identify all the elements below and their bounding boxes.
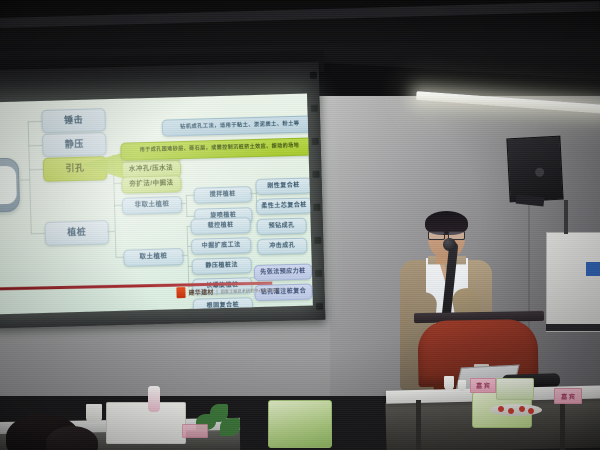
paper-cup: [444, 376, 454, 390]
cabinet-band: [546, 324, 600, 331]
wall-speaker-icon: [506, 136, 563, 203]
pink-bottle: [148, 386, 160, 412]
mindmap-node-level4: 先张法预应力桩: [254, 263, 312, 281]
mindmap-node-level3: 载控植桩: [190, 217, 250, 235]
connector: [115, 257, 123, 258]
cabinet-sticker: [586, 262, 600, 276]
mindmap-node-level2: 夯扩法/中掘法: [121, 175, 181, 194]
mindmap-node-level4: 预钻成孔: [256, 218, 306, 235]
brand-name: 建华建材: [188, 287, 213, 297]
cabinet-mount-rod: [564, 200, 568, 234]
mindmap-node-level2: 非取土植桩: [122, 196, 182, 215]
fruit-plate: [490, 404, 542, 416]
connector: [113, 183, 121, 184]
mindmap-node-level1: 植桩: [44, 220, 109, 246]
mindmap-node-level3: 中掘扩底工法: [191, 237, 251, 255]
name-card: 嘉 宾: [470, 378, 496, 393]
connector: [186, 216, 194, 217]
slide-content: 法 锤击 静压 引孔 植桩 钻机引孔 水: [0, 94, 313, 315]
connector: [186, 195, 188, 217]
tissue-box: [496, 378, 534, 400]
table-leg: [560, 398, 565, 450]
connector: [28, 121, 42, 122]
mindmap-node-level4: 冲击成孔: [257, 238, 307, 255]
projected-slide: 法 锤击 静压 引孔 植桩 钻机引孔 水: [0, 94, 313, 315]
green-snack-bag: [268, 400, 332, 448]
connector: [114, 205, 122, 206]
mindmap-node-level3: 搅拌植桩: [194, 186, 252, 204]
mindmap-node-level2: 取土植桩: [123, 248, 183, 267]
mindmap-node-level1: 静压: [42, 132, 107, 157]
glasses-icon: [428, 231, 465, 238]
brand-mark-icon: [176, 287, 185, 298]
callout-note-top: 钻机成孔工法，适用于粘土、淤泥质土、粉土等: [162, 115, 313, 136]
connector: [28, 145, 42, 146]
callout-note-highlight: 用于成孔困难砂层、砾石层，或需控制沉桩挤土效应、振动的场地: [120, 137, 313, 161]
connector: [31, 233, 45, 234]
mindmap-node-level1: 锤击: [41, 108, 106, 133]
mindmap-node-level3: 静压植桩法: [192, 257, 252, 275]
connector: [107, 231, 115, 232]
connector: [28, 121, 32, 233]
wall-cabinet: [546, 232, 600, 332]
speaker-cone-icon: [535, 168, 544, 177]
ceiling-beam: [0, 1, 600, 28]
ceiling-beam: [0, 30, 600, 51]
white-box-on-table: [106, 402, 186, 444]
mindmap-node-level4: 刚性复合桩: [255, 177, 311, 195]
table-leg: [416, 400, 421, 450]
name-card: 嘉 宾: [554, 388, 582, 404]
mindmap-root-label: 法: [0, 166, 17, 205]
name-card: [182, 424, 208, 438]
connector: [186, 195, 194, 196]
paper-cup: [458, 380, 466, 391]
brand-tagline: 国家工程技术研究中心依托单位: [217, 287, 280, 295]
connector: [29, 169, 43, 170]
mindmap-node-level4: 柔性土芯复合桩: [256, 197, 312, 215]
microphone-head-icon: [443, 238, 456, 251]
presentation-room-photo: 法 锤击 静压 引孔 植桩 钻机引孔 水: [0, 0, 600, 450]
cup-on-left-table: [86, 404, 102, 422]
connector: [187, 226, 190, 288]
connector: [114, 205, 116, 257]
mindmap-root-node: 法: [0, 158, 20, 214]
